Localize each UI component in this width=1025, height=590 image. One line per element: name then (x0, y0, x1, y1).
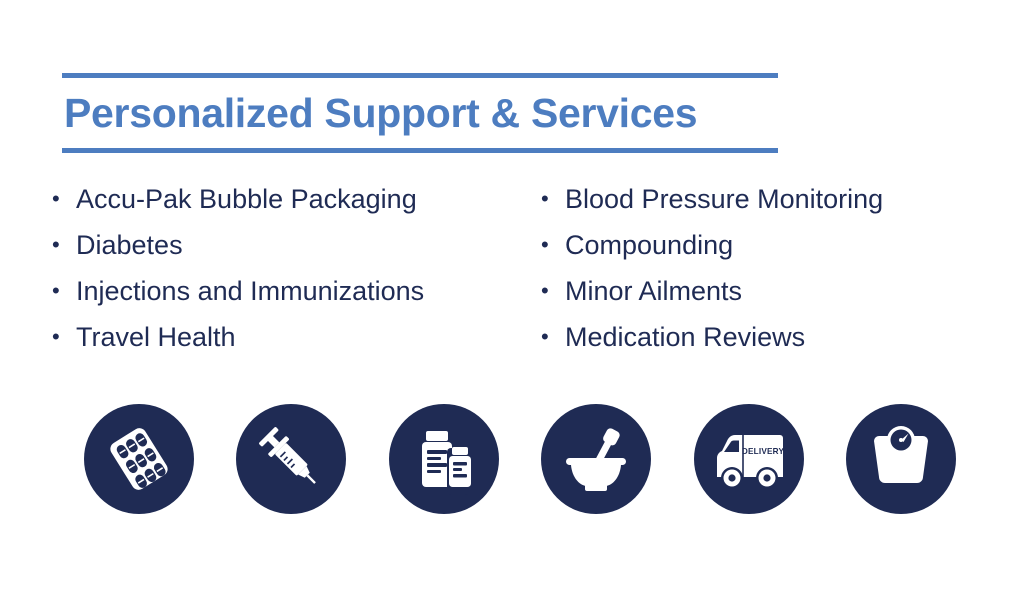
bullet-icon: • (541, 226, 565, 264)
service-label: Medication Reviews (565, 318, 805, 356)
list-item: • Accu-Pak Bubble Packaging (52, 180, 541, 226)
delivery-truck-badge-text: DELIVERY (741, 447, 784, 456)
list-item: • Blood Pressure Monitoring (541, 180, 997, 226)
bullet-icon: • (541, 272, 565, 310)
page-title: Personalized Support & Services (62, 78, 778, 148)
blister-pack-icon (103, 423, 175, 495)
service-label: Compounding (565, 226, 733, 264)
list-item: • Injections and Immunizations (52, 272, 541, 318)
list-item: • Travel Health (52, 318, 541, 364)
pill-bottles-icon (408, 423, 480, 495)
list-item: • Medication Reviews (541, 318, 997, 364)
bullet-icon: • (541, 180, 565, 218)
weight-scale-icon (865, 423, 937, 495)
syringe-icon (255, 423, 327, 495)
icon-row: DELIVERY (84, 404, 956, 514)
services-lists: • Accu-Pak Bubble Packaging • Diabetes •… (52, 180, 997, 364)
slide-canvas: Personalized Support & Services • Accu-P… (0, 0, 1025, 590)
services-column-right: • Blood Pressure Monitoring • Compoundin… (541, 180, 997, 364)
list-item: • Compounding (541, 226, 997, 272)
service-label: Injections and Immunizations (76, 272, 424, 310)
icon-badge-syringe (236, 404, 346, 514)
service-label: Diabetes (76, 226, 183, 264)
service-label: Blood Pressure Monitoring (565, 180, 883, 218)
service-label: Accu-Pak Bubble Packaging (76, 180, 417, 218)
service-label: Travel Health (76, 318, 236, 356)
bullet-icon: • (52, 272, 76, 310)
mortar-and-pestle-icon (559, 422, 633, 496)
title-rule-bottom (62, 148, 778, 153)
bullet-icon: • (52, 226, 76, 264)
list-item: • Diabetes (52, 226, 541, 272)
title-block: Personalized Support & Services (62, 73, 778, 153)
icon-badge-blister-pack (84, 404, 194, 514)
icon-badge-pill-bottles (389, 404, 499, 514)
service-label: Minor Ailments (565, 272, 742, 310)
bullet-icon: • (52, 318, 76, 356)
bullet-icon: • (52, 180, 76, 218)
bullet-icon: • (541, 318, 565, 356)
icon-badge-weight-scale (846, 404, 956, 514)
list-item: • Minor Ailments (541, 272, 997, 318)
services-column-left: • Accu-Pak Bubble Packaging • Diabetes •… (52, 180, 541, 364)
icon-badge-mortar-pestle (541, 404, 651, 514)
delivery-truck-icon: DELIVERY (710, 420, 788, 498)
icon-badge-delivery-truck: DELIVERY (694, 404, 804, 514)
